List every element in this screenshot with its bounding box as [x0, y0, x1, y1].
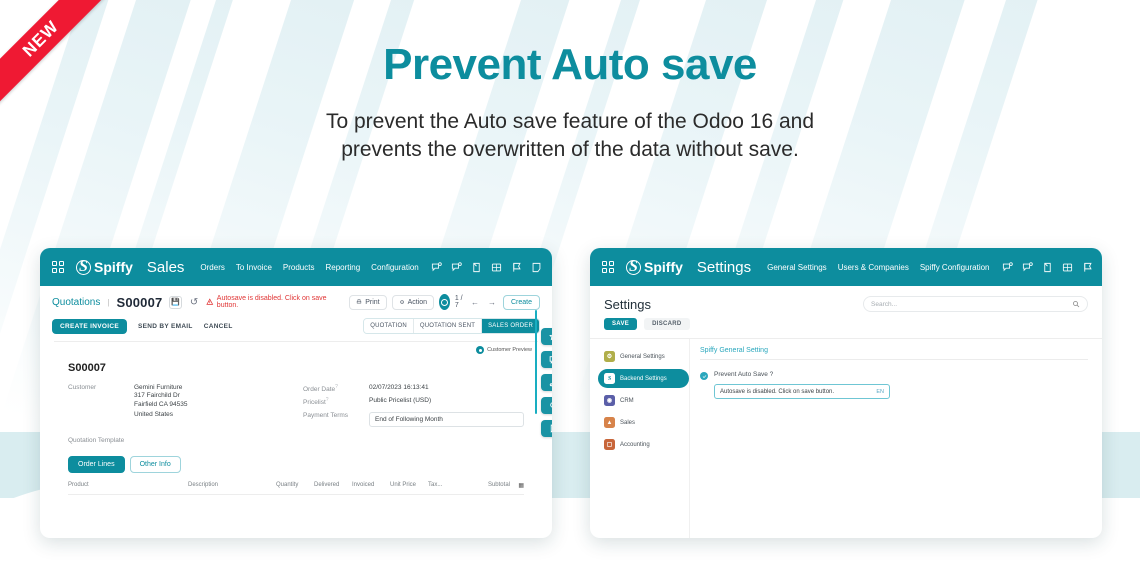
record-title: S00007 [68, 362, 538, 374]
nav-item-to-invoice[interactable]: To Invoice [236, 263, 272, 272]
sidebar-item-label: Sales [620, 420, 635, 426]
section-title: Spiffy General Setting [700, 347, 1088, 360]
prevent-auto-save-option: Prevent Auto Save ? Autosave is disabled… [700, 371, 1088, 399]
new-ribbon-label: NEW [0, 0, 112, 110]
settings-screenshot-card: S Spiffy Settings General Settings Users… [590, 248, 1102, 538]
settings-body: ⚙ General Settings S Backend Settings ◉ … [590, 338, 1102, 538]
search-icon[interactable] [541, 397, 552, 414]
sidebar-item-general-settings[interactable]: ⚙ General Settings [598, 347, 689, 366]
customer-name-link[interactable]: Gemini Furniture [134, 384, 182, 391]
note-icon[interactable] [531, 262, 542, 273]
autosave-warning: Autosave is disabled. Click on save butt… [206, 295, 342, 309]
printer-icon [356, 299, 362, 305]
settings-header: Settings Search... [590, 286, 1102, 318]
payment-terms-row: Payment Terms End of Following Month [303, 412, 538, 427]
star-icon[interactable] [541, 328, 552, 345]
customer-address-line3: United States [134, 410, 187, 419]
payment-terms-label: Payment Terms [303, 412, 369, 419]
search-placeholder: Search... [871, 301, 897, 308]
pricelist-label: Pricelist? [303, 397, 369, 406]
breadcrumb-parent[interactable]: Quotations [52, 297, 100, 308]
clipboard-icon[interactable] [1042, 262, 1053, 273]
order-date-value[interactable]: 02/07/2023 16:13:41 [369, 384, 429, 393]
action-button[interactable]: Action [392, 295, 434, 310]
crm-icon: ◉ [604, 395, 615, 406]
settings-nav-right [1002, 259, 1103, 276]
apps-menu-icon[interactable] [602, 261, 614, 273]
discard-button[interactable]: DISCARD [644, 318, 689, 330]
autosave-warning-text: Autosave is disabled. Click on save butt… [217, 295, 342, 309]
grid-icon[interactable] [491, 262, 502, 273]
app-name: Settings [697, 259, 751, 276]
column-quantity: Quantity [276, 482, 314, 489]
create-invoice-button[interactable]: CREATE INVOICE [52, 319, 127, 334]
send-by-email-button[interactable]: SEND BY EMAIL [138, 323, 193, 330]
sales-icon: ▲ [604, 417, 615, 428]
pager-label: 1 / 7 [455, 295, 464, 309]
pager-next-button[interactable]: → [486, 298, 498, 307]
flag-icon[interactable] [1082, 262, 1093, 273]
customer-label: Customer [68, 384, 134, 419]
chat-badge-alt-icon[interactable] [1022, 262, 1033, 273]
order-lines-table-header: Product Description Quantity Delivered I… [68, 482, 524, 495]
order-date-row: Order Date? 02/07/2023 16:13:41 [303, 384, 538, 393]
settings-page-title: Settings [604, 297, 651, 312]
nav-item-configuration[interactable]: Configuration [371, 263, 419, 272]
nav-item-orders[interactable]: Orders [200, 263, 224, 272]
warning-triangle-icon [206, 298, 214, 306]
status-sales-order[interactable]: SALES ORDER [482, 319, 539, 333]
new-ribbon: NEW [0, 0, 112, 112]
accounting-icon: ▢ [604, 439, 615, 450]
settings-top-nav: S Spiffy Settings General Settings Users… [590, 248, 1102, 286]
pin-icon[interactable] [551, 262, 552, 273]
customer-preview-button[interactable]: Customer Preview [476, 346, 532, 354]
clipboard-icon[interactable] [471, 262, 482, 273]
sales-nav-menu: Orders To Invoice Products Reporting Con… [200, 263, 418, 272]
prevent-auto-save-checkbox[interactable] [700, 372, 708, 380]
print-button[interactable]: Print [349, 295, 386, 310]
print-label: Print [365, 299, 379, 306]
sidebar-item-backend-settings[interactable]: S Backend Settings [598, 369, 689, 388]
status-circle-icon[interactable] [439, 294, 450, 310]
chat-badge-alt-icon[interactable] [451, 262, 462, 273]
sidebar-item-label: General Settings [620, 354, 665, 360]
action-label: Action [408, 299, 427, 306]
status-quotation-sent[interactable]: QUOTATION SENT [414, 319, 482, 333]
autosave-message-input[interactable]: Autosave is disabled. Click on save butt… [714, 384, 890, 399]
settings-nav-menu: General Settings Users & Companies Spiff… [767, 263, 989, 272]
pager-prev-button[interactable]: ← [469, 298, 481, 307]
customer-preview-label: Customer Preview [487, 347, 532, 354]
action-buttons-row: CREATE INVOICE SEND BY EMAIL CANCEL QUOT… [40, 314, 552, 341]
discard-icon[interactable]: ↺ [189, 297, 199, 308]
breadcrumb-row: Quotations | S00007 💾 ↺ Autosave is disa… [40, 286, 552, 314]
column-product: Product [68, 482, 188, 489]
sidebar-item-label: CRM [620, 398, 634, 404]
sales-nav-right [431, 259, 552, 276]
prevent-auto-save-label: Prevent Auto Save ? [714, 371, 890, 378]
quotation-template-label: Quotation Template [68, 437, 538, 444]
column-delivered: Delivered [314, 482, 352, 489]
status-bar: QUOTATION QUOTATION SENT SALES ORDER [363, 318, 540, 334]
link-icon[interactable] [541, 374, 552, 391]
form-column-right: Order Date? 02/07/2023 16:13:41 Pricelis… [303, 384, 538, 431]
form-grid: Customer Gemini Furniture 317 Fairchild … [54, 384, 538, 431]
sidebar-item-crm[interactable]: ◉ CRM [598, 391, 689, 410]
breadcrumb-actions: Print Action 1 / 7 ← → Create [349, 294, 540, 310]
order-date-label: Order Date? [303, 384, 369, 393]
sales-screenshot-card: S Spiffy Sales Orders To Invoice Product… [40, 248, 552, 538]
column-description: Description [188, 482, 276, 489]
brand-logo[interactable]: S Spiffy [76, 259, 133, 275]
breadcrumb-separator: | [107, 298, 109, 307]
lang-badge[interactable]: EN [876, 389, 884, 395]
column-subtotal: Subtotal [466, 482, 510, 489]
brand-logo[interactable]: S Spiffy [626, 259, 683, 275]
vertical-scrollbar[interactable] [535, 310, 537, 414]
gear-icon [399, 299, 405, 305]
customer-field-row: Customer Gemini Furniture 317 Fairchild … [68, 384, 303, 419]
spiffy-s-icon: S [76, 260, 91, 275]
settings-sidebar: ⚙ General Settings S Backend Settings ◉ … [590, 339, 690, 538]
prevent-auto-save-group: Prevent Auto Save ? Autosave is disabled… [714, 371, 890, 399]
nav-item-products[interactable]: Products [283, 263, 315, 272]
floating-side-buttons [541, 328, 552, 437]
pricelist-row: Pricelist? Public Pricelist (USD) [303, 397, 538, 406]
sidebar-item-accounting[interactable]: ▢ Accounting [598, 435, 689, 454]
status-quotation[interactable]: QUOTATION [364, 319, 414, 333]
sidebar-item-label: Accounting [620, 442, 650, 448]
nav-item-users-companies[interactable]: Users & Companies [838, 263, 909, 272]
sidebar-item-sales[interactable]: ▲ Sales [598, 413, 689, 432]
column-options-icon[interactable]: ▦ [510, 482, 524, 489]
chat-icon[interactable] [541, 351, 552, 368]
customer-address-line1: 317 Fairchild Dr [134, 391, 187, 400]
form-column-left: Customer Gemini Furniture 317 Fairchild … [68, 384, 303, 431]
sheet-tabs: Order Lines Other Info [68, 456, 538, 473]
page-title: Prevent Auto save [0, 40, 1140, 90]
hero-subtitle-line2: prevents the overwritten of the data wit… [0, 136, 1140, 164]
tab-other-info[interactable]: Other Info [130, 456, 181, 473]
tab-order-lines[interactable]: Order Lines [68, 456, 125, 473]
hero-subtitle: To prevent the Auto save feature of the … [0, 108, 1140, 165]
brand-name: Spiffy [644, 259, 683, 275]
sidebar-item-label: Backend Settings [620, 376, 667, 382]
chat-badge-icon[interactable] [431, 262, 442, 273]
breadcrumb-current: S00007 [116, 295, 162, 310]
payment-terms-input[interactable]: End of Following Month [369, 412, 524, 427]
bookmark-icon[interactable] [541, 420, 552, 437]
gear-icon: ⚙ [604, 351, 615, 362]
nav-item-general-settings[interactable]: General Settings [767, 263, 827, 272]
spiffy-s-icon: S [626, 260, 641, 275]
nav-item-spiffy-configuration[interactable]: Spiffy Configuration [920, 263, 990, 272]
create-button[interactable]: Create [503, 295, 540, 310]
app-name: Sales [147, 259, 185, 276]
brand-name: Spiffy [94, 259, 133, 275]
search-input[interactable]: Search... [863, 296, 1088, 312]
search-icon [1072, 300, 1080, 308]
grid-icon[interactable] [1062, 262, 1073, 273]
customer-preview-icon [476, 346, 484, 354]
hero-subtitle-line1: To prevent the Auto save feature of the … [0, 108, 1140, 136]
sales-top-nav: S Spiffy Sales Orders To Invoice Product… [40, 248, 552, 286]
apps-menu-icon[interactable] [52, 261, 64, 273]
customer-address-line2: Fairfield CA 94535 [134, 400, 187, 409]
column-invoiced: Invoiced [352, 482, 390, 489]
record-sheet: Customer Preview S00007 Customer Gemini … [54, 341, 538, 517]
settings-main-panel: Spiffy General Setting Prevent Auto Save… [690, 339, 1102, 538]
settings-action-buttons: SAVE DISCARD [590, 318, 1102, 338]
chat-badge-icon[interactable] [1002, 262, 1013, 273]
flag-icon[interactable] [511, 262, 522, 273]
cancel-button[interactable]: CANCEL [204, 323, 233, 330]
column-tax: Tax... [428, 482, 466, 489]
customer-value-group: Gemini Furniture 317 Fairchild Dr Fairfi… [134, 384, 187, 419]
pricelist-value[interactable]: Public Pricelist (USD) [369, 397, 431, 406]
note-icon[interactable] [1102, 262, 1103, 273]
spiffy-s-icon: S [604, 373, 615, 384]
column-unit-price: Unit Price [390, 482, 428, 489]
save-button[interactable]: SAVE [604, 318, 637, 330]
save-icon[interactable]: 💾 [169, 296, 181, 309]
hero-block: Prevent Auto save To prevent the Auto sa… [0, 40, 1140, 165]
autosave-message-value: Autosave is disabled. Click on save butt… [720, 389, 834, 395]
nav-item-reporting[interactable]: Reporting [325, 263, 360, 272]
